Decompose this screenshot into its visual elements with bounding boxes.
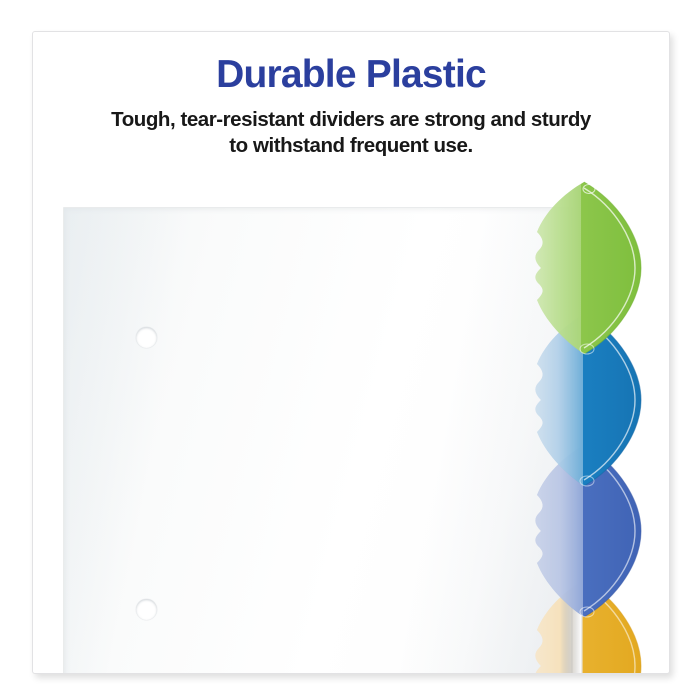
page-subtitle-line-1: Tough, tear-resistant dividers are stron… [111,108,591,131]
page-subtitle-line-2: to withstand frequent use. [229,134,472,157]
punch-hole-top [136,327,157,348]
divider-sheet [63,207,573,673]
page-title: Durable Plastic [33,52,669,98]
product-image-card: Durable Plastic Tough, tear-resistant di… [32,31,670,674]
page-subtitle: Tough, tear-resistant dividers are stron… [33,107,669,159]
product-photo [33,172,669,673]
sheet-edge-highlight [571,207,572,673]
punch-hole-bottom [136,599,157,620]
heading-block: Durable Plastic Tough, tear-resistant di… [33,32,669,159]
